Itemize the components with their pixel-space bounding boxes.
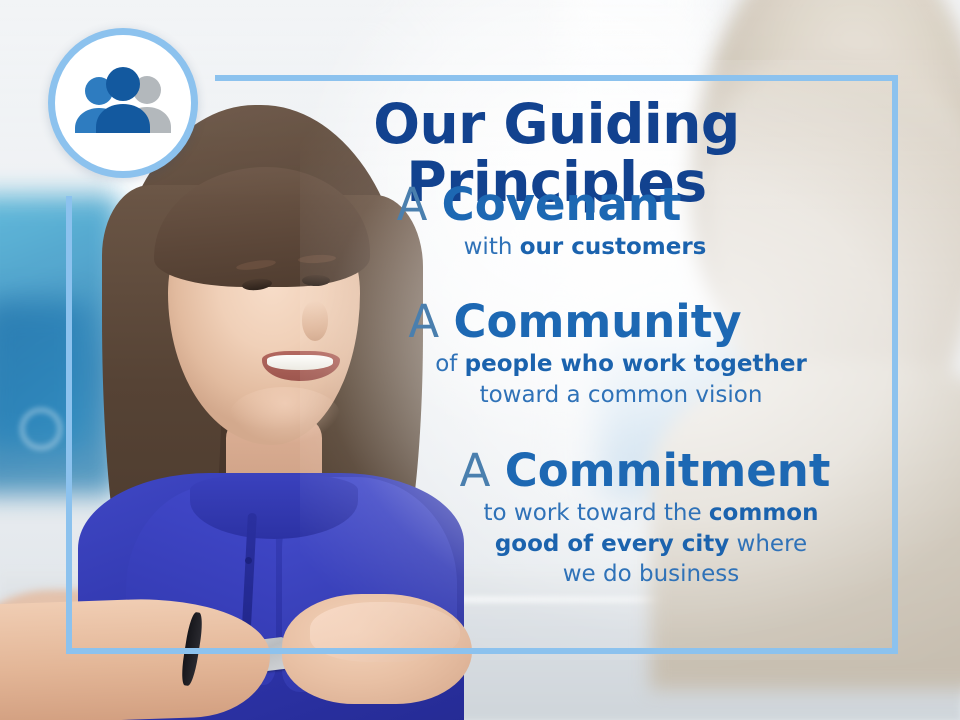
principle-community-article: A [408, 295, 439, 348]
frame-border-bottom [66, 648, 898, 654]
principle-commitment-sub-line2-suffix: where [729, 531, 807, 557]
principle-community: A Community of people who work together … [300, 297, 898, 410]
principle-commitment-sub-bold: common [709, 500, 819, 526]
principles-list: A Covenant with our customers A Communit… [300, 180, 898, 615]
principle-commitment-sub-line3: we do business [563, 561, 740, 587]
principle-commitment-sub-prefix: to work toward the [484, 500, 709, 526]
principle-commitment-article: A [460, 444, 491, 497]
principle-community-subtitle: of people who work together toward a com… [322, 349, 920, 410]
principle-covenant-subtitle: with our customers [286, 232, 884, 262]
principle-community-title: A Community [276, 297, 874, 347]
principle-community-sub-line2: toward a common vision [480, 382, 763, 408]
principle-covenant-sub-prefix: with [464, 234, 520, 260]
employee-polo-button [245, 557, 252, 564]
principle-community-sub-bold: people who work together [465, 351, 807, 377]
principle-commitment-keyword: Commitment [505, 444, 831, 497]
principle-covenant-keyword: Covenant [442, 178, 682, 231]
principle-covenant-sub-bold: our customers [520, 234, 707, 260]
principle-covenant-title: A Covenant [240, 180, 838, 230]
principle-commitment-title: A Commitment [346, 446, 944, 496]
principle-community-sub-prefix: of [435, 351, 464, 377]
principle-commitment: A Commitment to work toward the common g… [300, 446, 898, 589]
frame-border-top [215, 75, 898, 81]
principle-commitment-subtitle: to work toward the common good of every … [352, 498, 950, 589]
principle-community-keyword: Community [454, 295, 742, 348]
principle-covenant-article: A [397, 178, 428, 231]
people-group-icon [71, 67, 175, 139]
principle-commitment-sub-line2-bold: good of every city [495, 531, 729, 557]
people-group-icon-badge [48, 28, 198, 178]
guiding-principles-graphic: FLOW FLOW [0, 0, 960, 720]
frame-border-left [66, 196, 72, 654]
principle-covenant: A Covenant with our customers [300, 180, 898, 263]
